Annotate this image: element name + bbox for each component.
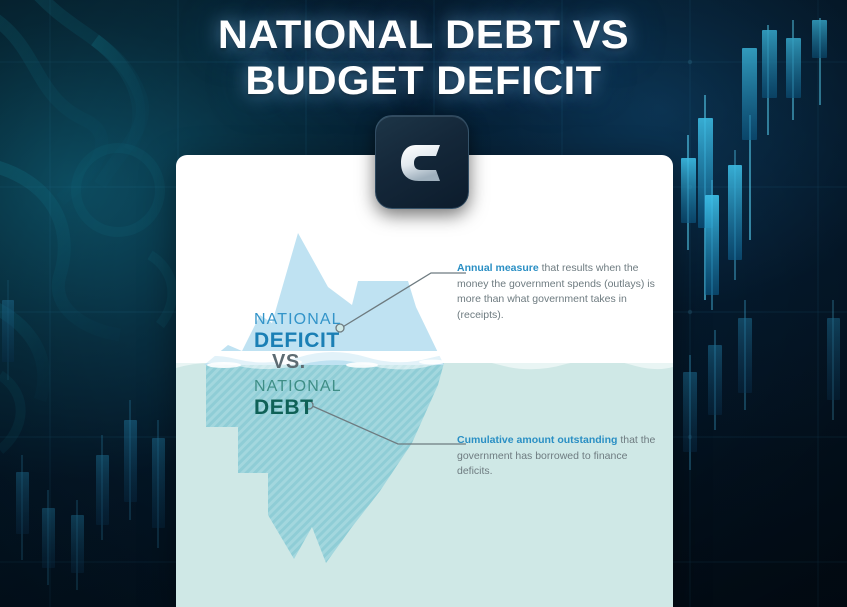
iceberg-diagram: [176, 155, 673, 607]
annotation-debt: Cumulative amount outstanding that the g…: [457, 433, 657, 480]
label-national-deficit: NATIONAL DEFICIT: [254, 310, 342, 352]
annotation-deficit-lead: Annual measure: [457, 262, 539, 274]
deficit-label-bold: DEFICIT: [254, 329, 342, 352]
c-logo-icon: [396, 136, 448, 188]
label-national-debt: NATIONAL DEBT: [254, 377, 342, 419]
debt-label-bold: DEBT: [254, 396, 342, 419]
logo-badge: [375, 115, 469, 209]
annotation-deficit: Annual measure that results when the mon…: [457, 261, 657, 323]
debt-label-thin: NATIONAL: [254, 377, 342, 396]
annotation-debt-lead: Cumulative amount outstanding: [457, 434, 617, 446]
waterline-waves: [176, 351, 673, 370]
infographic-card: NATIONAL DEFICIT VS. NATIONAL DEBT Annua…: [176, 155, 673, 607]
label-versus: VS.: [272, 351, 306, 374]
deficit-label-thin: NATIONAL: [254, 310, 342, 329]
